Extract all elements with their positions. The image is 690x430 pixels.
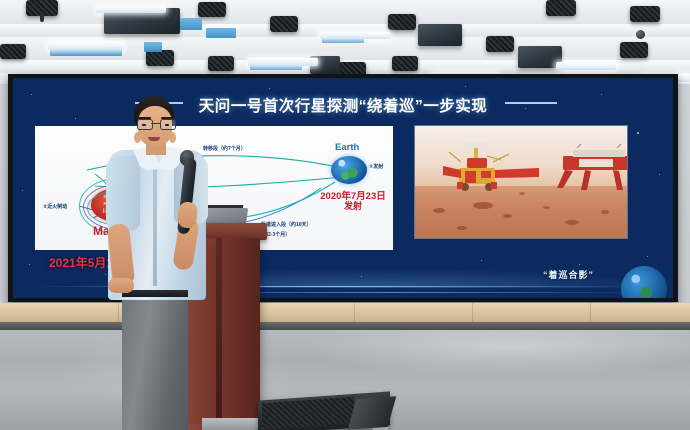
fluorescent-tube [48,42,124,50]
screenshot-root: 天问一号首次行星探测“绕着巡”一步实现 [0,0,690,430]
spotlight-icon [270,16,298,32]
spotlight-icon [630,6,660,22]
spotlight-icon [388,14,416,30]
capture-phase-label: ②近火制动 [43,204,67,210]
earth-label: Earth [335,142,359,153]
shirt-placket [153,158,157,286]
mars-rover-photo [415,126,627,238]
orbit-insert-phase-label: 轨道进入段（约10天） [261,222,312,228]
fluorescent-tube [320,32,390,39]
fluorescent-tube [96,6,166,13]
ceiling-vent [206,28,236,38]
air-conditioning-panel [418,24,462,46]
spotlight-icon [198,2,226,17]
presenter [104,96,214,430]
launch-word-label: 发射 [311,199,393,212]
fluorescent-tube [556,62,616,70]
presenter-hand-left [108,278,134,293]
zhurong-rover-icon [443,134,573,206]
earth-planet-icon [331,156,367,184]
spotlight-icon [208,56,234,71]
spotlight-icon [146,50,174,66]
ceiling-vent [144,42,162,52]
fluorescent-tube [248,58,318,66]
launch-marker-label: ①发射 [369,164,383,170]
presenter-belt [122,290,188,297]
landing-platform-icon [557,144,627,202]
ceiling-camera-icon [636,30,645,39]
spotlight-icon [0,44,26,59]
spotlight-icon [546,0,576,16]
ceiling-vent [180,18,202,30]
presenter-sleeve-left [106,156,140,230]
spotlight-icon [620,42,648,58]
spotlight-icon [392,56,418,71]
spotlight-icon [486,36,514,52]
podium-side-edge [216,238,222,430]
presenter-trousers [122,292,188,430]
eyeglasses-icon [137,119,174,128]
